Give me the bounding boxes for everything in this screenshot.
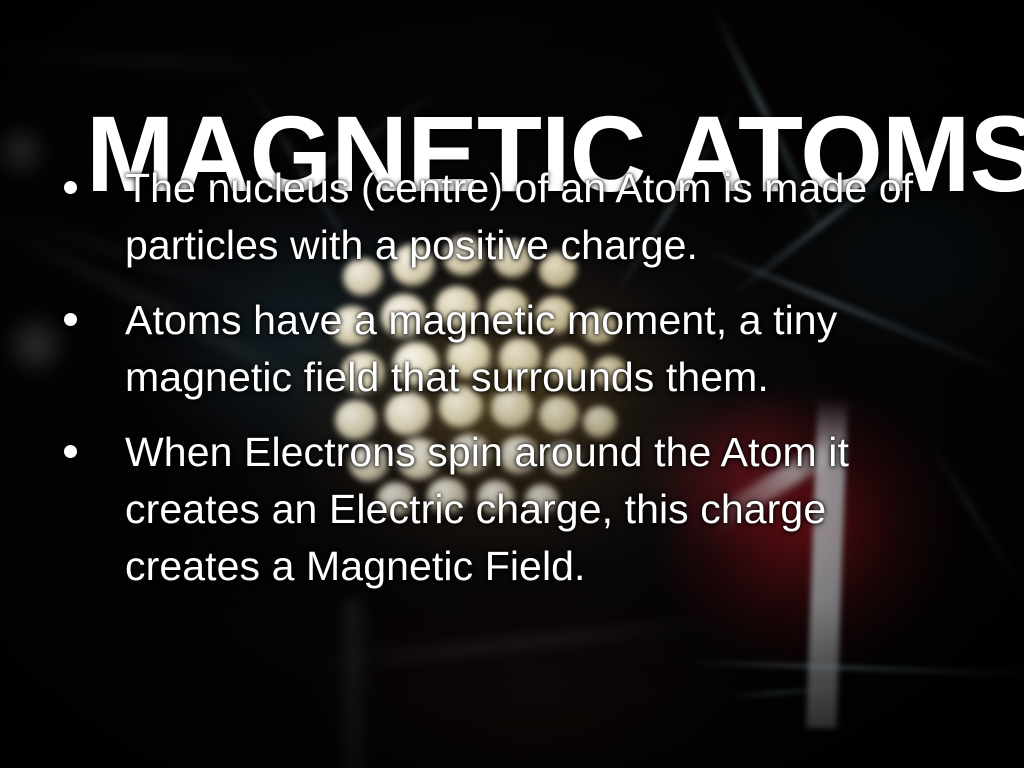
bullet-list: The nucleus (centre) of an Atom is made …: [52, 160, 984, 613]
bullet-point-icon: [64, 445, 77, 458]
slide-content: MAGNETIC ATOMS The nucleus (centre) of a…: [0, 0, 1024, 768]
bullet-point-icon: [64, 181, 77, 194]
bullet-text: The nucleus (centre) of an Atom is made …: [125, 160, 945, 274]
bullet-text: Atoms have a magnetic moment, a tiny mag…: [125, 292, 945, 406]
list-item: The nucleus (centre) of an Atom is made …: [52, 160, 984, 274]
list-item: When Electrons spin around the Atom it c…: [52, 424, 984, 595]
presentation-slide: MAGNETIC ATOMS The nucleus (centre) of a…: [0, 0, 1024, 768]
bullet-text: When Electrons spin around the Atom it c…: [125, 424, 945, 595]
bullet-point-icon: [64, 313, 77, 326]
list-item: Atoms have a magnetic moment, a tiny mag…: [52, 292, 984, 406]
